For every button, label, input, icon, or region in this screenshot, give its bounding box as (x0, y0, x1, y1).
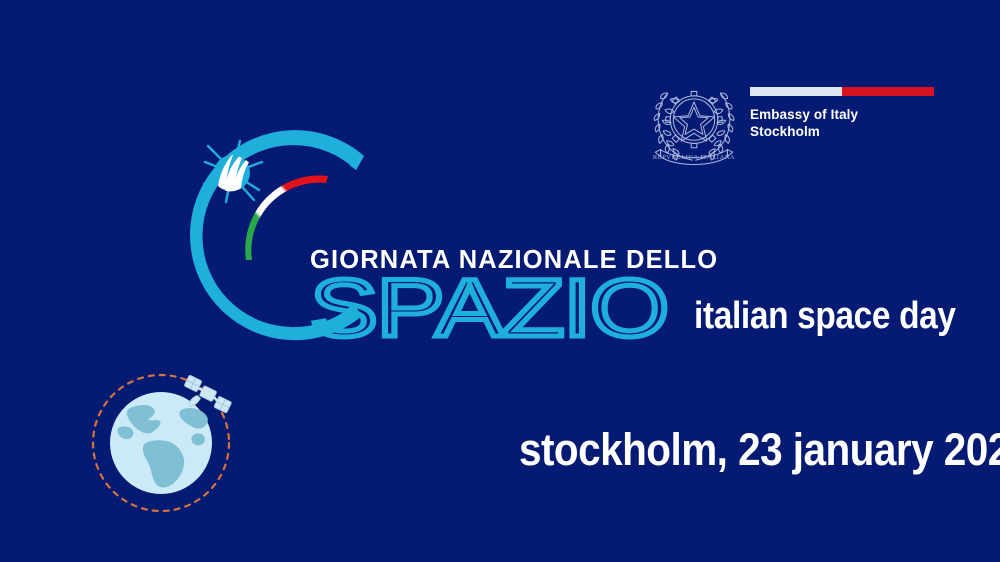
embassy-city: Stockholm (750, 123, 934, 140)
tagline-english: italian space day (694, 297, 956, 335)
poster-canvas: REPVBBLICA ITALIANA Embassy of Italy Sto… (0, 0, 1000, 562)
flag-stripe-white (750, 87, 842, 96)
italian-republic-emblem: REPVBBLICA ITALIANA (650, 78, 738, 170)
earth-globe (110, 392, 212, 494)
embassy-name: Embassy of Italy (750, 106, 934, 123)
tagline-date: stockholm, 23 january 2026 (519, 427, 1000, 472)
emblem-ribbon-text: REPVBBLICA ITALIANA (653, 154, 735, 161)
wordmark: GIORNATA NAZIONALE DELLO SPAZIO (310, 248, 690, 342)
earth-satellite-illustration (78, 358, 258, 518)
embassy-text-block: Embassy of Italy Stockholm (750, 78, 934, 140)
wordmark-spazio: SPAZIO (310, 276, 670, 342)
flag-stripe-red (842, 87, 934, 96)
embassy-lockup: REPVBBLICA ITALIANA Embassy of Italy Sto… (650, 78, 950, 170)
italian-flag-bar (750, 87, 934, 96)
spazio-outline-text: SPAZIO (310, 263, 668, 354)
